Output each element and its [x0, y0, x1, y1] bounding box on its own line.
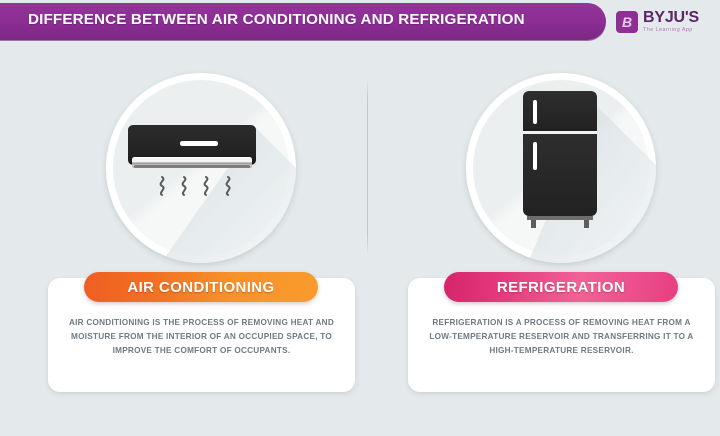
refrigeration-badge-label: REFRIGERATION: [497, 279, 625, 296]
refrigerator-icon: [466, 73, 656, 263]
air-conditioning-description: AIR CONDITIONING IS THE PROCESS OF REMOV…: [62, 316, 341, 359]
air-conditioning-badge-label: AIR CONDITIONING: [127, 279, 274, 296]
infographic-canvas: DIFFERENCE BETWEEN AIR CONDITIONING AND …: [0, 0, 720, 436]
refrigerator-icon-circle: [466, 73, 656, 263]
air-conditioning-badge: AIR CONDITIONING: [84, 272, 318, 302]
air-conditioner-icon-circle: [106, 73, 296, 263]
air-conditioner-icon: [106, 73, 296, 263]
refrigeration-description: REFRIGERATION IS A PROCESS OF REMOVING H…: [422, 316, 701, 359]
refrigeration-badge: REFRIGERATION: [444, 272, 678, 302]
panel-refrigeration: REFRIGERATION IS A PROCESS OF REMOVING H…: [360, 0, 720, 436]
panel-air-conditioning: AIR CONDITIONING IS THE PROCESS OF REMOV…: [0, 0, 360, 436]
